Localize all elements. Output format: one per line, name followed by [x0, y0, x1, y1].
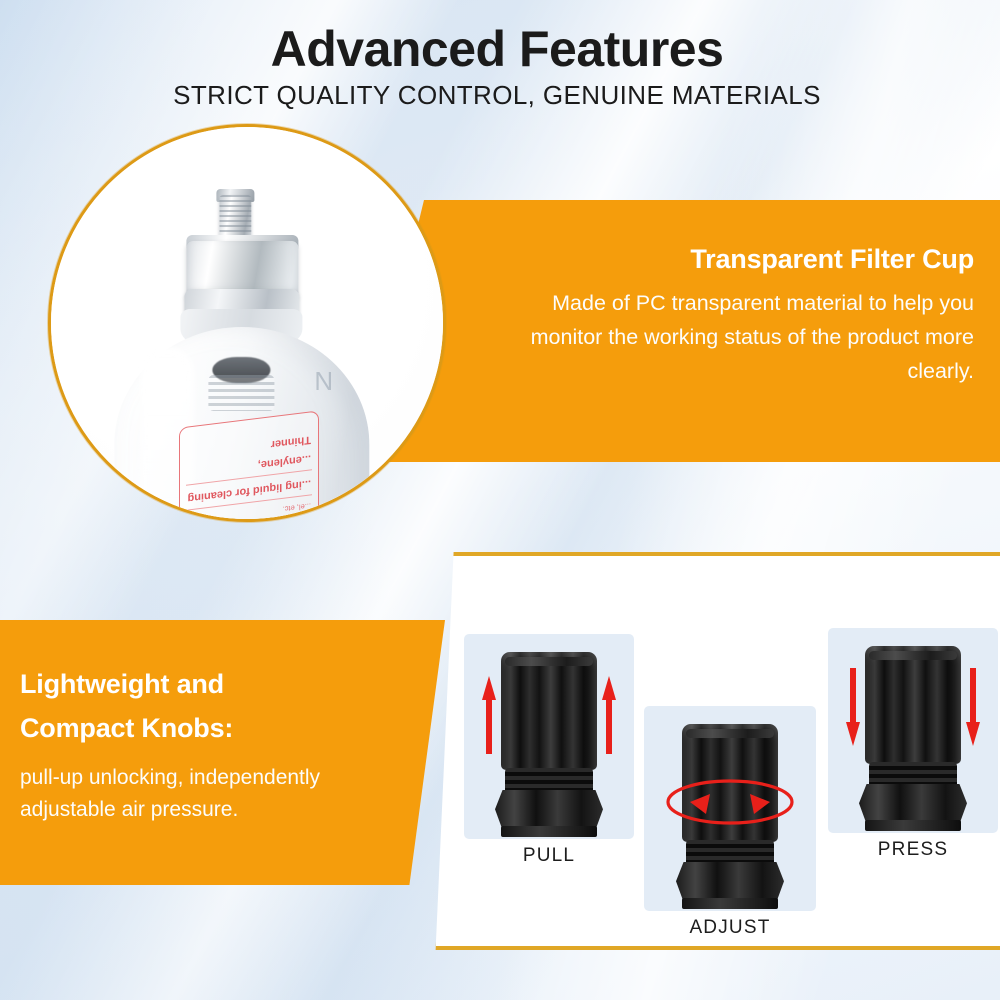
feature-heading-line2: Compact Knobs:	[20, 707, 420, 751]
feature-panel-text: Lightweight and Compact Knobs: pull-up u…	[20, 663, 420, 825]
knob-step-press: PRESS	[828, 628, 998, 861]
knob-base	[501, 826, 597, 837]
inner-thread	[208, 375, 274, 411]
knob-steps-panel: PULL ADJUST	[432, 552, 1000, 950]
page-subtitle: STRICT QUALITY CONTROL, GENUINE MATERIAL…	[0, 80, 1000, 111]
knob-cap	[501, 652, 597, 770]
arrow-down-icon	[846, 668, 860, 746]
knob-base	[865, 820, 961, 831]
knob-cap	[865, 646, 961, 764]
warning-label: ... 40c ...el, etc. ...ing liquid for cl…	[179, 410, 319, 522]
knob-photo-press	[828, 628, 998, 833]
knob-photo-pull	[464, 634, 634, 839]
emboss-mark: N	[315, 365, 334, 396]
knob-caption-adjust: ADJUST	[644, 917, 816, 939]
arrow-down-icon-2	[966, 668, 980, 746]
knob-step-pull: PULL	[464, 634, 634, 867]
page-title: Advanced Features	[0, 22, 1000, 76]
product-photo-circle: N ... 40c ...el, etc. ...ing liquid for …	[48, 124, 446, 522]
feature-panel-transparent-filter-cup: Transparent Filter Cup Made of PC transp…	[360, 200, 1000, 462]
knob-steps-row: PULL ADJUST	[436, 556, 1000, 946]
rotate-arrow-icon	[644, 706, 816, 911]
knob-step-adjust: ADJUST	[644, 706, 816, 939]
feature-body: Made of PC transparent material to help …	[494, 287, 974, 389]
feature-body: pull-up unlocking, independently adjusta…	[20, 762, 420, 825]
knob-hex-nut	[495, 790, 603, 830]
knob-photo-adjust	[644, 706, 816, 911]
arrow-up-icon	[482, 676, 496, 754]
knob-caption-press: PRESS	[828, 839, 998, 861]
feature-heading: Transparent Filter Cup	[494, 244, 974, 275]
knob-hex-nut	[859, 784, 967, 824]
knob-caption-pull: PULL	[464, 845, 634, 867]
arrow-up-icon-2	[602, 676, 616, 754]
feature-heading-line1: Lightweight and	[20, 663, 420, 707]
feature-panel-lightweight-knobs: Lightweight and Compact Knobs: pull-up u…	[0, 620, 445, 885]
header: Advanced Features STRICT QUALITY CONTROL…	[0, 22, 1000, 111]
feature-panel-text: Transparent Filter Cup Made of PC transp…	[494, 244, 974, 389]
